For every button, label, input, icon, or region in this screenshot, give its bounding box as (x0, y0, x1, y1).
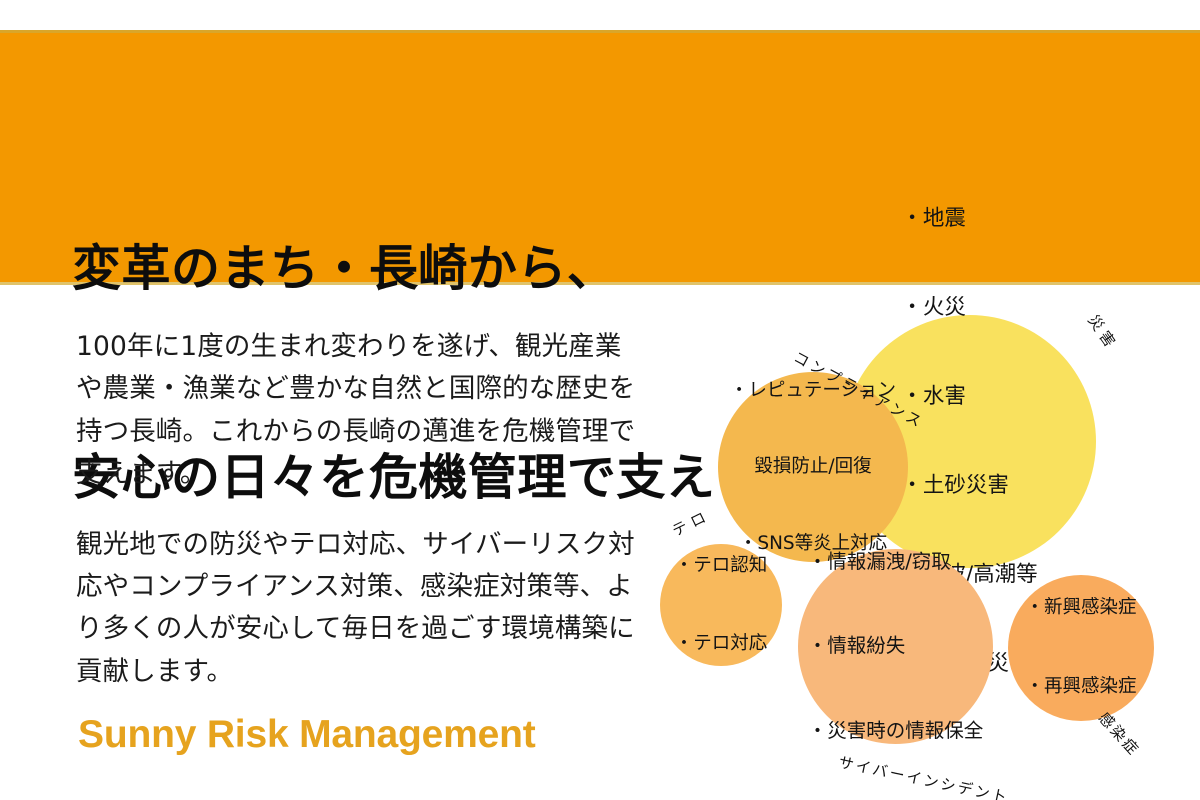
list-item: ・新興感染症 (1025, 595, 1136, 621)
body-copy: 100年に1度の生まれ変わりを遂げ、観光産業や農業・漁業など豊かな自然と国際的な… (76, 326, 636, 693)
list-item: 毀損防止/回復 (730, 454, 896, 480)
risk-bubble-diagram: ・地震 ・火災 ・水害 ・土砂災害 ・津波/高潮等 ・観光防災 災害 ・レピュテ… (640, 296, 1200, 800)
list-item: ・火災 (901, 293, 1037, 323)
bubble-terror: ・テロ認知 ・テロ対応 (660, 544, 782, 666)
list-item: ・情報紛失 (808, 632, 984, 660)
body-paragraph-1: 100年に1度の生まれ変わりを遂げ、観光産業や農業・漁業など豊かな自然と国際的な… (76, 326, 636, 496)
poster-canvas: 変革のまち・長崎から、 安心の日々を危機管理で支えます。 100年に1度の生まれ… (0, 0, 1200, 800)
list-item: ・地震 (901, 204, 1037, 234)
list-item: ・災害時の情報保全 (808, 717, 984, 745)
bubble-cyber-items: ・情報漏洩/窃取 ・情報紛失 ・災害時の情報保全 (808, 491, 984, 800)
body-paragraph-2: 観光地での防災やテロ対応、サイバーリスク対応やコンプライアンス対策、感染症対策等… (76, 524, 636, 694)
list-item: ・再興感染症 (1025, 674, 1136, 700)
headline-line-1: 変革のまち・長崎から、 (72, 234, 859, 304)
bubble-cyber-incident: ・情報漏洩/窃取 ・情報紛失 ・災害時の情報保全 (798, 549, 993, 744)
list-item: ・テロ対応 (675, 631, 768, 657)
bubble-infectious-disease: ・新興感染症 ・再興感染症 (1008, 575, 1154, 721)
bubble-label-disaster: 災害 (1083, 310, 1123, 354)
list-item: ・水害 (901, 382, 1037, 412)
list-item: ・テロ認知 (675, 553, 768, 579)
list-item: ・情報漏洩/窃取 (808, 548, 984, 576)
brand-wordmark: Sunny Risk Management (78, 713, 536, 757)
